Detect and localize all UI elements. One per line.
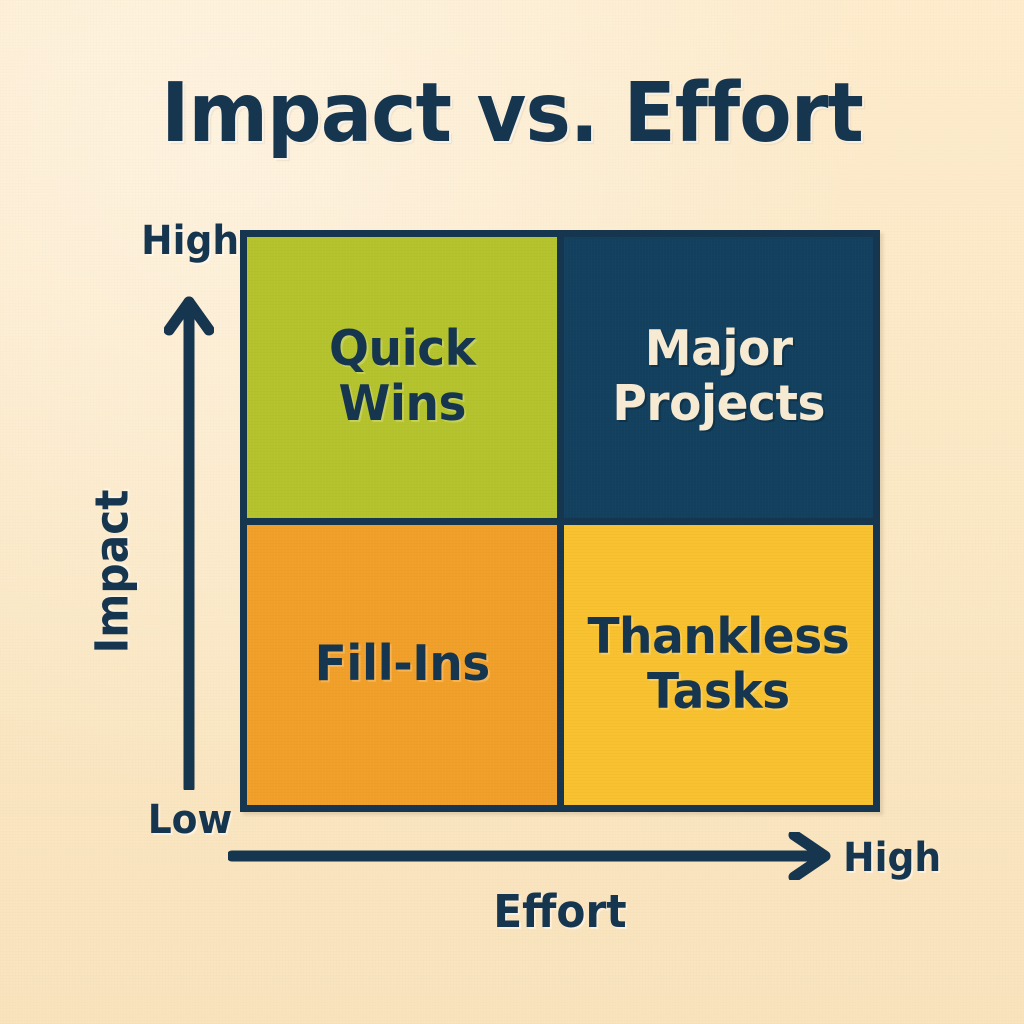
x-axis-title: Effort	[240, 885, 880, 938]
quadrant-major-projects-line1: Major	[644, 320, 792, 377]
quadrant-quick-wins[interactable]: Quick Wins	[247, 237, 557, 518]
quadrant-major-projects-label: Major Projects	[612, 322, 825, 432]
quadrant-fill-ins-label: Fill-Ins	[314, 637, 489, 692]
y-axis-high-label: High	[141, 218, 239, 264]
arrow-up-icon	[164, 290, 214, 790]
quadrant-quick-wins-line2: Wins	[338, 375, 466, 432]
y-axis-title: Impact	[86, 449, 139, 693]
quadrant-thankless-tasks-label: Thankless Tasks	[587, 610, 849, 720]
quadrant-thankless-tasks[interactable]: Thankless Tasks	[564, 525, 874, 806]
quadrant-thankless-tasks-line1: Thankless	[587, 608, 849, 665]
page-title: Impact vs. Effort	[36, 66, 988, 161]
y-axis-low-label: Low	[148, 797, 233, 843]
quadrant-thankless-tasks-line2: Tasks	[647, 663, 790, 720]
quadrant-grid: Quick Wins Major Projects Fill-Ins Thank…	[240, 230, 880, 812]
impact-effort-matrix-canvas: Impact vs. Effort High Low Impact Quick …	[0, 0, 1024, 1024]
x-axis-title-text: Effort	[493, 885, 626, 938]
quadrant-fill-ins[interactable]: Fill-Ins	[247, 525, 557, 806]
quadrant-quick-wins-label: Quick Wins	[329, 322, 475, 432]
x-axis-high-label: High	[843, 835, 941, 881]
quadrant-fill-ins-line1: Fill-Ins	[314, 635, 489, 692]
quadrant-quick-wins-line1: Quick	[329, 320, 475, 377]
quadrant-major-projects-line2: Projects	[612, 375, 825, 432]
quadrant-major-projects[interactable]: Major Projects	[564, 237, 874, 518]
arrow-right-icon	[228, 832, 838, 880]
